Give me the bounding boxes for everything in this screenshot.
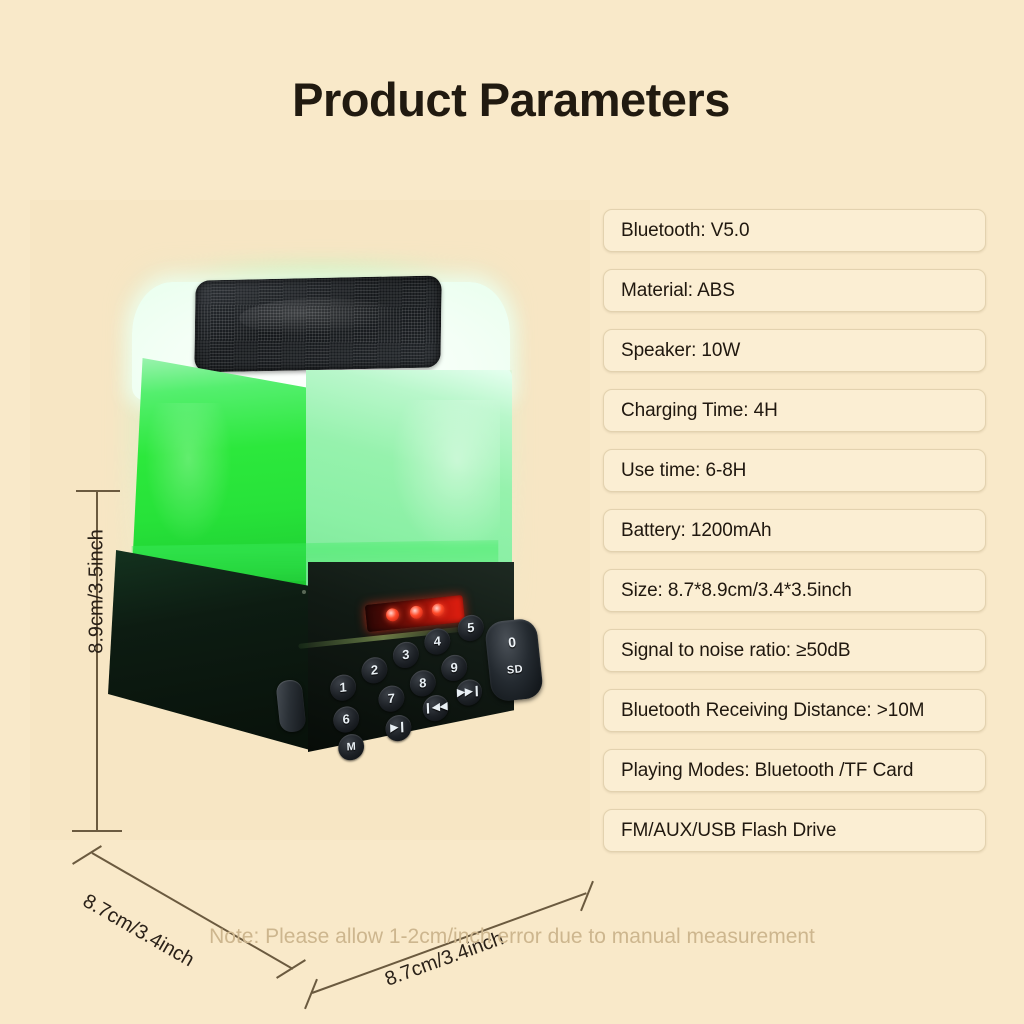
key-3[interactable]: 3 (392, 641, 419, 670)
spec-text: Signal to noise ratio: ≥50dB (621, 640, 850, 662)
led-segment (409, 605, 423, 619)
spec-item-battery: Battery: 1200mAh (603, 509, 986, 552)
spec-text: FM/AUX/USB Flash Drive (621, 820, 836, 842)
spec-item-size: Size: 8.7*8.9cm/3.4*3.5inch (603, 569, 986, 612)
spec-text: Use time: 6-8H (621, 460, 746, 482)
spec-text: Bluetooth Receiving Distance: >10M (621, 700, 924, 722)
spec-item-speaker: Speaker: 10W (603, 329, 986, 372)
page-title-text: Product Parameters (292, 72, 730, 127)
keypad: 1 2 3 4 5 6 7 8 9 ▶❙ ❙◀◀ ▶▶❙ M (320, 619, 493, 757)
spec-item-receiving-distance: Bluetooth Receiving Distance: >10M (603, 689, 986, 732)
spec-text: Speaker: 10W (621, 340, 740, 362)
spec-text: Charging Time: 4H (621, 400, 778, 422)
spec-text: Material: ABS (621, 280, 735, 302)
spec-item-playing-modes: Playing Modes: Bluetooth /TF Card (603, 749, 986, 792)
key-0[interactable]: 0 (485, 631, 538, 652)
height-dimension-label: 8.9cm/3.5inch (86, 507, 109, 677)
sd-card-slot-panel[interactable]: 0 SD (484, 618, 544, 703)
microphone-hole (302, 590, 306, 594)
measurement-note: Note: Please allow 1-2cm/inch error due … (0, 925, 1024, 949)
spec-item-material: Material: ABS (603, 269, 986, 312)
height-dimension-cap-bottom (72, 830, 122, 832)
product-parameters-page: Product Parameters 1 2 3 (0, 0, 1024, 1024)
spec-item-bluetooth: Bluetooth: V5.0 (603, 209, 986, 252)
led-segment (431, 603, 445, 617)
key-8[interactable]: 8 (409, 669, 436, 698)
play-pause-icon[interactable]: ▶❙ (385, 714, 412, 743)
key-7[interactable]: 7 (378, 684, 405, 713)
spec-item-use-time: Use time: 6-8H (603, 449, 986, 492)
product-photo: 1 2 3 4 5 6 7 8 9 ▶❙ ❙◀◀ ▶▶❙ M 0 SD (30, 200, 590, 840)
page-title: Product Parameters (0, 72, 1024, 127)
key-2[interactable]: 2 (361, 656, 388, 685)
key-6[interactable]: 6 (333, 705, 360, 734)
mode-key[interactable]: M (338, 733, 365, 762)
speaker-product: 1 2 3 4 5 6 7 8 9 ▶❙ ❙◀◀ ▶▶❙ M 0 SD (90, 240, 530, 760)
height-dimension-cap-top (76, 490, 120, 492)
spec-item-fm-aux-usb: FM/AUX/USB Flash Drive (603, 809, 986, 852)
led-segment (385, 608, 399, 622)
key-1[interactable]: 1 (330, 673, 357, 702)
spec-text: Battery: 1200mAh (621, 520, 771, 542)
key-5[interactable]: 5 (457, 614, 484, 643)
spec-text: Playing Modes: Bluetooth /TF Card (621, 760, 913, 782)
next-track-icon[interactable]: ▶▶❙ (456, 678, 483, 707)
previous-track-icon[interactable]: ❙◀◀ (422, 694, 449, 723)
spec-list: Bluetooth: V5.0 Material: ABS Speaker: 1… (603, 209, 986, 869)
width-dimension-cap-start (304, 979, 318, 1009)
speaker-grille (194, 275, 441, 372)
sd-label: SD (489, 661, 542, 678)
key-4[interactable]: 4 (424, 627, 451, 656)
spec-item-signal-to-noise: Signal to noise ratio: ≥50dB (603, 629, 986, 672)
key-9[interactable]: 9 (441, 654, 468, 683)
width-dimension-cap-end (580, 881, 594, 911)
spec-text: Size: 8.7*8.9cm/3.4*3.5inch (621, 580, 852, 602)
spec-text: Bluetooth: V5.0 (621, 220, 749, 242)
spec-item-charging-time: Charging Time: 4H (603, 389, 986, 432)
